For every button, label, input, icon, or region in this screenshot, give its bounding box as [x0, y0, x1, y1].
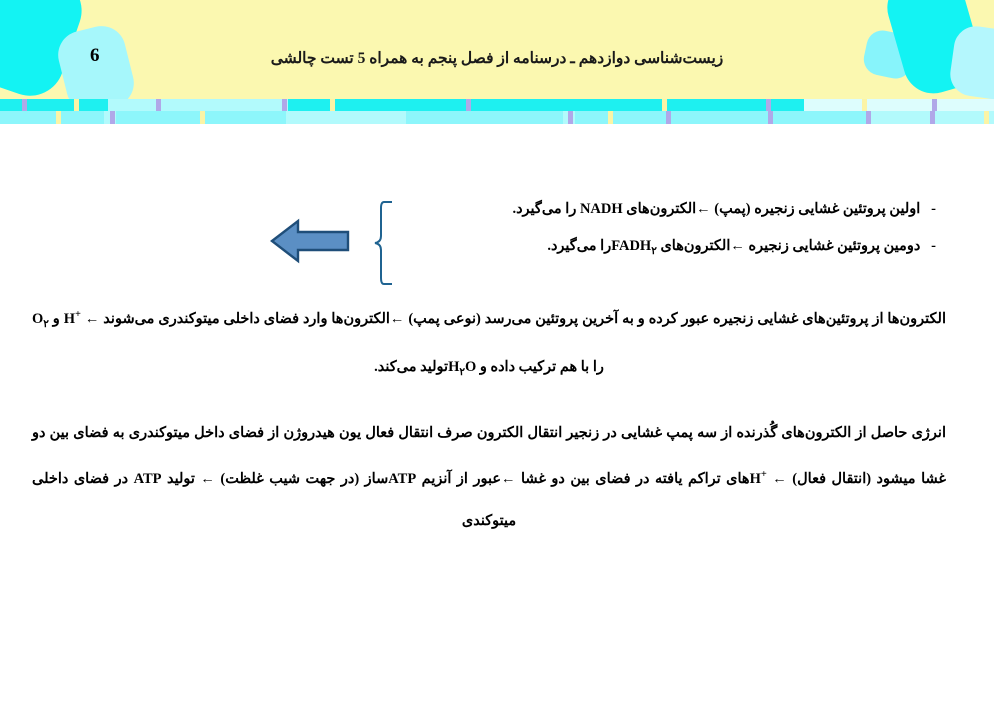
band-tick — [56, 111, 61, 124]
hydrogen-ion-formula: H+ — [750, 471, 767, 487]
fadh2-base: FADH — [611, 238, 651, 254]
bullet-list: - اولین پروتئین غشایی زنجیره (پمپ) ←الکت… — [376, 202, 936, 257]
bullet-text-before: اولین پروتئین غشایی زنجیره (پمپ) ←الکترو… — [626, 201, 920, 217]
band-tick — [200, 111, 205, 124]
band-tick — [930, 111, 935, 124]
paragraph-segment: های تراکم یافته در فضای بین دو غشا ←عبور… — [416, 471, 749, 487]
water-o: O — [465, 359, 476, 375]
header-banner: 6 زیست‌شناسی دوازدهم ـ درسنامه از فصل پن… — [0, 0, 994, 99]
atp-synthase-label: ATP — [388, 471, 416, 487]
bullet-marker: - — [931, 201, 936, 217]
band-segment — [286, 111, 406, 124]
band-tick — [156, 99, 161, 111]
band-segment — [575, 111, 870, 124]
nadh-formula: NADH — [580, 201, 623, 217]
band-tick — [74, 99, 79, 111]
band-segment — [804, 99, 994, 111]
water-h: H — [448, 359, 459, 375]
list-item: - دومین پروتئین غشایی زنجیره ←الکترون‌ها… — [376, 239, 936, 257]
bullet-text-before: دومین پروتئین غشایی زنجیره ←الکترون‌های — [660, 238, 920, 254]
h-base: H — [64, 311, 75, 327]
fadh2-formula: FADH۲ — [611, 238, 657, 254]
left-arrow-icon — [270, 217, 350, 265]
band-segment — [108, 99, 288, 111]
paragraph-segment: را با هم ترکیب داده و — [476, 359, 604, 375]
band-tick — [666, 111, 671, 124]
hydrogen-ion-formula: H+ — [64, 311, 81, 327]
band-tick — [110, 111, 115, 124]
electron-transfer-paragraph: الکترون‌ها از پروتئین‌های غشایی زنجیره ع… — [32, 294, 946, 394]
paragraph-segment: الکترون‌ها از پروتئین‌های غشایی زنجیره ع… — [81, 311, 946, 327]
band-tick — [932, 99, 937, 111]
band-tick — [330, 99, 335, 111]
band-tick — [984, 111, 989, 124]
oxygen-formula: O۲ — [32, 311, 49, 327]
o-base: O — [32, 311, 43, 327]
atp-label: ATP — [134, 471, 162, 487]
paragraph-segment: تولید می‌کند. — [374, 359, 448, 375]
page-title: زیست‌شناسی دوازدهم ـ درسنامه از فصل پنجم… — [0, 49, 994, 68]
decorative-band-strip — [0, 99, 994, 124]
band-tick — [862, 99, 867, 111]
band-tick — [608, 111, 613, 124]
band-tick — [282, 99, 287, 111]
band-row-bottom — [0, 111, 994, 124]
paragraph-segment: ساز (در جهت شیب غلظت) ← تولید — [162, 471, 389, 487]
band-segment — [406, 111, 563, 124]
paragraph-segment: و — [49, 311, 64, 327]
band-tick — [662, 99, 667, 111]
bullet-text-after: را می‌گیرد. — [547, 238, 611, 254]
membrane-protein-bullet-group: - اولین پروتئین غشایی زنجیره (پمپ) ←الکت… — [0, 160, 994, 290]
band-segment — [0, 111, 104, 124]
fadh2-subscript: ۲ — [651, 245, 657, 256]
band-row-top — [0, 99, 994, 111]
band-tick — [466, 99, 471, 111]
band-tick — [866, 111, 871, 124]
slide-content: - اولین پروتئین غشایی زنجیره (پمپ) ←الکت… — [0, 124, 994, 703]
band-tick — [568, 111, 573, 124]
water-formula: H۲O — [448, 359, 476, 375]
list-item: - اولین پروتئین غشایی زنجیره (پمپ) ←الکت… — [376, 202, 936, 217]
bullet-text-after: را می‌گیرد. — [512, 201, 576, 217]
bullet-marker: - — [931, 238, 936, 254]
h-base: H — [750, 471, 761, 487]
band-tick — [768, 111, 773, 124]
atp-synthesis-paragraph: انرژی حاصل از الکترون‌های گُذرنده از سه … — [32, 412, 946, 542]
band-tick — [22, 99, 27, 111]
band-tick — [766, 99, 771, 111]
